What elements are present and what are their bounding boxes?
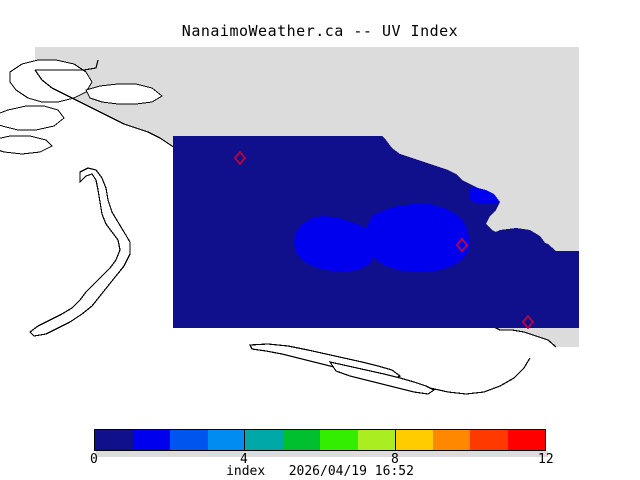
colorbar-tickmarks [94, 429, 546, 451]
colorbar-tick-4 [244, 429, 245, 451]
colorbar-caption: index 2026/04/19 16:52 [0, 464, 640, 479]
map-canvas[interactable] [0, 40, 640, 415]
uv-level-1-region [366, 204, 470, 272]
page-title: NanaimoWeather.ca -- UV Index [0, 22, 640, 40]
colorbar-tick-8 [395, 429, 396, 451]
uv-index-map-page: NanaimoWeather.ca -- UV Index [0, 0, 640, 480]
colorbar-dropshadow [96, 451, 548, 457]
